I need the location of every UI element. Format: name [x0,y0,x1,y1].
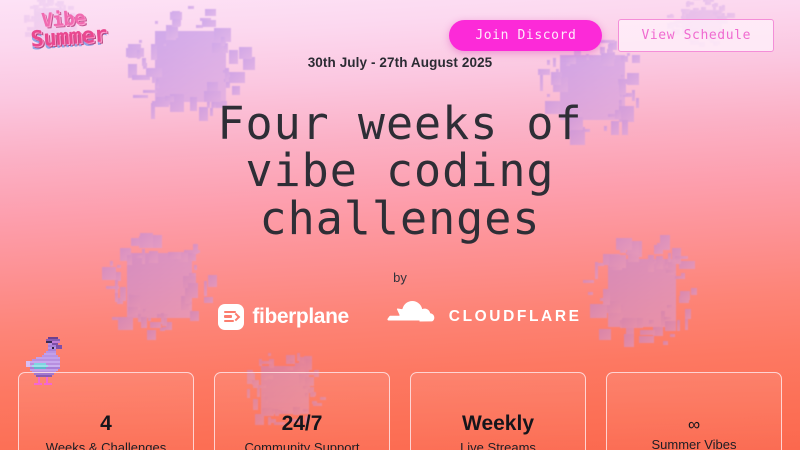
sponsor-cloudflare[interactable]: CLOUDFLARE [379,300,582,333]
stat-card: 4 Weeks & Challenges [18,372,194,450]
sponsor-cloudflare-label: CLOUDFLARE [449,308,582,326]
sponsor-logos: fiberplane CLOUDFLARE [0,300,800,333]
page-title: Four weeks of vibe coding challenges [0,100,800,242]
stat-value: ∞ [688,415,700,435]
headline-line-3: challenges [0,195,800,242]
stat-label: Community Support [245,440,360,450]
sponsor-fiberplane-label: fiberplane [252,305,348,329]
view-schedule-button[interactable]: View Schedule [618,19,774,52]
header-actions: Join Discord View Schedule [449,19,774,52]
stat-label: Summer Vibes [651,437,736,450]
stats-row: 4 Weeks & Challenges 24/7 Community Supp… [18,372,782,450]
join-discord-button[interactable]: Join Discord [449,20,602,51]
sponsored-by-label: by [0,270,800,285]
stat-label: Live Streams [460,440,536,450]
event-date-range: 30th July - 27th August 2025 [0,55,800,70]
fiberplane-icon [218,304,244,330]
logo-line-summer: Summer [30,25,108,51]
sponsor-fiberplane[interactable]: fiberplane [218,304,348,330]
site-logo[interactable]: Vibe Summer [29,7,108,51]
headline-line-1: Four weeks of [0,100,800,147]
stat-card: ∞ Summer Vibes [606,372,782,450]
landing-page: Vibe Summer Join Discord View Schedule 3… [0,0,800,450]
stat-card: 24/7 Community Support [214,372,390,450]
cloudflare-cloud-icon [379,300,441,333]
stat-value: 24/7 [282,412,323,436]
stat-value: 4 [100,412,112,436]
stat-card: Weekly Live Streams [410,372,586,450]
headline-line-2: vibe coding [0,147,800,194]
stat-value: Weekly [462,412,534,436]
stat-label: Weeks & Challenges [46,440,166,450]
